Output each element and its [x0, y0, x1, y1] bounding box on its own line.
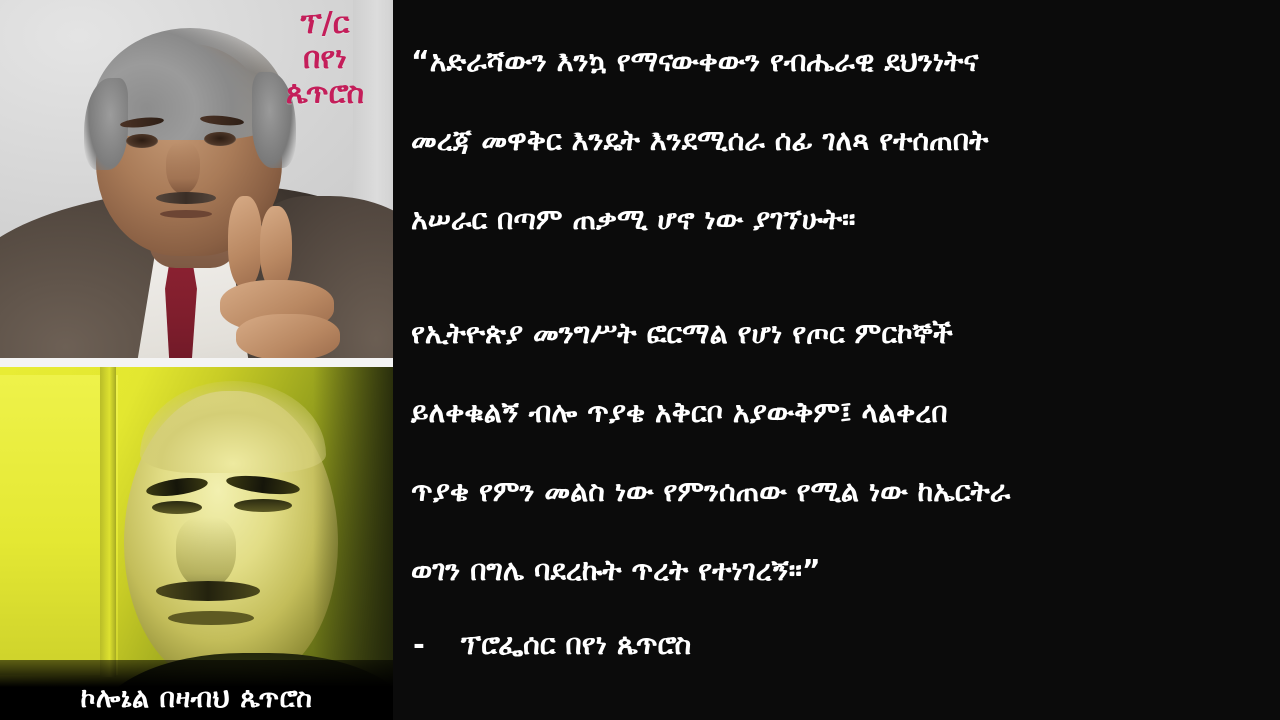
eye-left	[126, 134, 158, 148]
attribution-name: ፕሮፌሰር በየነ ጴጥሮስ	[461, 628, 691, 661]
eye-left	[152, 501, 202, 514]
background-post	[100, 367, 116, 677]
paragraph-spacer	[411, 259, 1256, 294]
mouth	[168, 611, 254, 625]
finger-2	[260, 206, 292, 290]
attribution-dash: -	[413, 610, 461, 680]
quote-text-panel: “አድራሻውን እንኳ የማናውቀውን የብሔራዊ ደህንነትና መረጃ መዋቅ…	[393, 0, 1280, 720]
photo-overlay-label-line-3: ጴጥሮስ	[261, 76, 389, 111]
mouth	[160, 210, 212, 218]
quote-line: የኢትዮጵያ መንግሥት ፎርማል የሆነ የጦር ምርኮኞች	[411, 294, 1256, 373]
quote-paragraph-1: “አድራሻውን እንኳ የማናውቀውን የብሔራዊ ደህንነትና መረጃ መዋቅ…	[411, 22, 1256, 259]
photo-overlay-label-line-2: በየነ	[261, 41, 389, 76]
quote-line: አሠራር በጣም ጠቃሚ ሆኖ ነው ያገኘሁት።	[411, 180, 1256, 259]
mustache	[156, 192, 216, 204]
quote-line: መረጃ መዋቅር እንዴት እንደሚሰራ ሰፊ ገለጻ የተሰጠበት	[411, 101, 1256, 180]
quote-graphic: ፕ/ር በየነ ጴጥሮስ ኮሎኔል በዛብህ ጴጥሮስ	[0, 0, 1280, 720]
quote-paragraph-2: የኢትዮጵያ መንግሥት ፎርማል የሆነ የጦር ምርኮኞች ይለቀቁልኝ ብ…	[411, 294, 1256, 610]
finger-1	[228, 196, 262, 288]
photo-overlay-label: ፕ/ር በየነ ጴጥሮስ	[261, 6, 389, 111]
photo-divider	[0, 358, 393, 367]
quote-line: ወገን በግሌ ባደረኩት ጥረት የተነገረኝ።”	[411, 531, 1256, 610]
mustache	[156, 581, 260, 601]
quote-attribution: -ፕሮፌሰር በየነ ጴጥሮስ	[411, 610, 1256, 680]
nose	[176, 517, 236, 589]
media-column: ፕ/ር በየነ ጴጥሮስ ኮሎኔል በዛብህ ጴጥሮስ	[0, 0, 393, 720]
portrait-bezabih-petros: ኮሎኔል በዛብህ ጴጥሮስ	[0, 367, 393, 720]
clasped-hands	[214, 196, 346, 358]
quote-line: “አድራሻውን እንኳ የማናውቀውን የብሔራዊ ደህንነትና	[411, 22, 1256, 101]
hand-lower	[236, 314, 340, 358]
nose	[166, 142, 200, 194]
quote-line: ጥያቄ የምን መልስ ነው የምንሰጠው የሚል ነው ከኤርትራ	[411, 452, 1256, 531]
photo-caption: ኮሎኔል በዛብህ ጴጥሮስ	[0, 684, 393, 714]
eye-right	[204, 132, 236, 146]
portrait-beyene-petros: ፕ/ር በየነ ጴጥሮስ	[0, 0, 393, 358]
quote-line: ይለቀቁልኝ ብሎ ጥያቄ አቅርቦ አያውቅም፤ ላልቀረበ	[411, 373, 1256, 452]
eye-right	[234, 499, 292, 512]
photo-overlay-label-line-1: ፕ/ር	[261, 6, 389, 41]
